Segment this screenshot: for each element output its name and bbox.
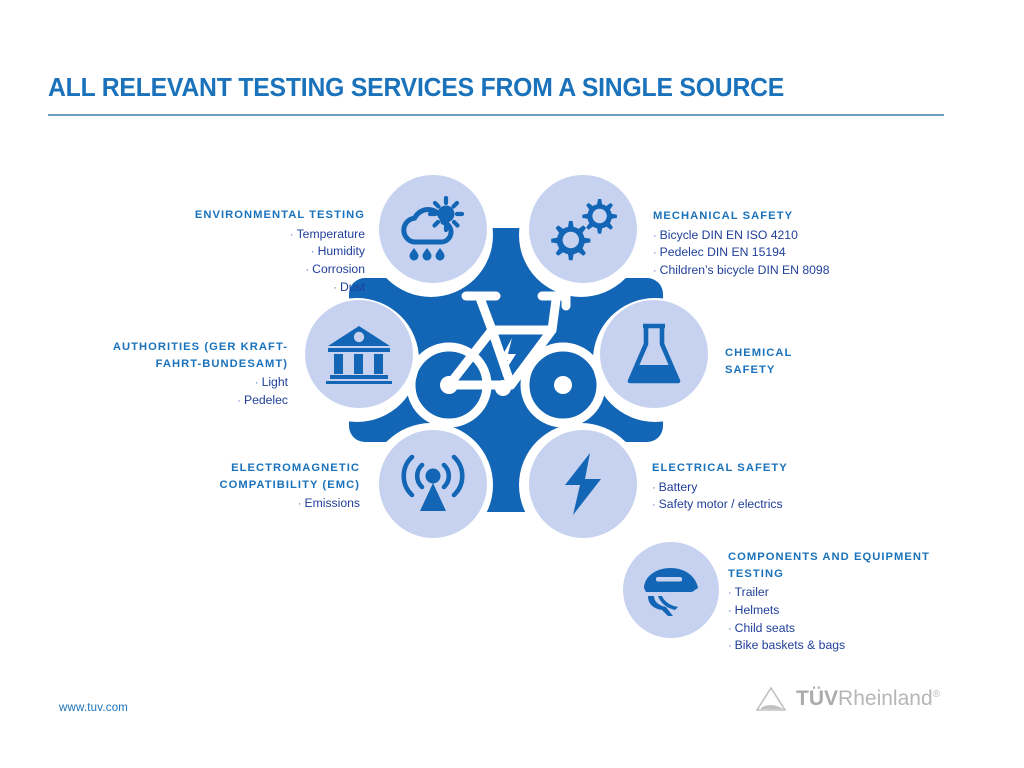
label-components-and-equipment-testing: COMPONENTS AND EQUIPMENT TESTING ·Traile… (728, 549, 1013, 655)
heading-line-2: FAHRT-BUNDESAMT) (55, 356, 288, 373)
gears-icon (548, 195, 618, 263)
bullet-icon: · (652, 499, 656, 511)
registered-mark: ® (933, 689, 940, 700)
bullet-icon: · (652, 482, 656, 494)
bubble-components-and-equipment-testing[interactable] (623, 542, 719, 638)
label-authorities: AUTHORITIES (GER KRAFT- FAHRT-BUNDESAMT)… (55, 339, 288, 410)
heading: ENVIRONMENTAL TESTING (120, 207, 365, 224)
lightning-bolt-icon (559, 451, 607, 517)
list-item: ·Pedelec DIN EN 15194 (653, 244, 953, 262)
website-link[interactable]: www.tuv.com (59, 702, 128, 714)
heading-line-2: SAFETY (725, 362, 945, 379)
erlenmeyer-flask-icon (625, 320, 683, 388)
item-list: ·Emissions (150, 495, 360, 513)
bullet-icon: · (728, 587, 732, 599)
label-mechanical-safety: MECHANICAL SAFETY ·Bicycle DIN EN ISO 42… (653, 208, 953, 280)
item-list: ·Trailer ·Helmets ·Child seats ·Bike bas… (728, 584, 1013, 655)
item-list: ·Temperature ·Humidity ·Corrosion ·Dust (120, 226, 365, 297)
list-item: ·Battery (652, 479, 932, 497)
label-electromagnetic-compatibility: ELECTROMAGNETIC COMPATIBILITY (EMC) ·Emi… (150, 460, 360, 513)
heading-line-1: ELECTROMAGNETIC (150, 460, 360, 477)
bullet-icon: · (311, 246, 315, 258)
item-list: ·Battery ·Safety motor / electrics (652, 479, 932, 515)
list-item: ·Dust (120, 279, 365, 297)
bullet-icon: · (305, 264, 309, 276)
heading-line-1: CHEMICAL (725, 345, 945, 362)
infographic: ENVIRONMENTAL TESTING ·Temperature ·Humi… (0, 0, 1024, 768)
bubble-authorities[interactable] (305, 300, 413, 408)
heading: ELECTRICAL SAFETY (652, 460, 932, 477)
brand-wordmark: TÜVRheinland® (796, 687, 940, 711)
label-environmental-testing: ENVIRONMENTAL TESTING ·Temperature ·Humi… (120, 207, 365, 297)
list-item: ·Temperature (120, 226, 365, 244)
heading-line-1: COMPONENTS AND EQUIPMENT (728, 549, 1013, 566)
list-item: ·Light (55, 374, 288, 392)
list-item: ·Pedelec (55, 392, 288, 410)
bullet-icon: · (653, 247, 657, 259)
list-item: ·Safety motor / electrics (652, 496, 932, 514)
list-item: ·Humidity (120, 243, 365, 261)
bullet-icon: · (237, 395, 241, 407)
list-item: ·Bicycle DIN EN ISO 4210 (653, 227, 953, 245)
antenna-signal-icon (400, 453, 466, 515)
list-item: ·Child seats (728, 620, 1013, 638)
weather-cloud-sun-rain-icon (398, 196, 468, 262)
bubble-environmental-testing[interactable] (379, 175, 487, 283)
heading: MECHANICAL SAFETY (653, 208, 953, 225)
bubble-electrical-safety[interactable] (529, 430, 637, 538)
label-electrical-safety: ELECTRICAL SAFETY ·Battery ·Safety motor… (652, 460, 932, 514)
bullet-icon: · (728, 623, 732, 635)
bullet-icon: · (298, 498, 302, 510)
label-chemical-safety: CHEMICAL SAFETY (725, 345, 945, 378)
bullet-icon: · (333, 282, 337, 294)
list-item: ·Corrosion (120, 261, 365, 279)
heading-line-2: COMPATIBILITY (EMC) (150, 477, 360, 494)
brand-bold: TÜV (796, 687, 838, 710)
bike-helmet-icon (640, 562, 702, 618)
heading-line-2: TESTING (728, 566, 1013, 583)
bullet-icon: · (728, 640, 732, 652)
bullet-icon: · (290, 229, 294, 241)
list-item: ·Emissions (150, 495, 360, 513)
bubble-chemical-safety[interactable] (600, 300, 708, 408)
item-list: ·Bicycle DIN EN ISO 4210 ·Pedelec DIN EN… (653, 227, 953, 280)
bullet-icon: · (255, 377, 259, 389)
brand-light: Rheinland (838, 687, 933, 710)
tuv-triangle-icon (755, 686, 787, 712)
government-building-icon (326, 324, 392, 384)
item-list: ·Light ·Pedelec (55, 374, 288, 410)
bullet-icon: · (728, 605, 732, 617)
tuv-rheinland-logo: TÜVRheinland® (755, 686, 940, 712)
list-item: ·Bike baskets & bags (728, 637, 1013, 655)
list-item: ·Children’s bicycle DIN EN 8098 (653, 262, 953, 280)
bullet-icon: · (653, 230, 657, 242)
list-item: ·Trailer (728, 584, 1013, 602)
bubble-electromagnetic-compatibility[interactable] (379, 430, 487, 538)
list-item: ·Helmets (728, 602, 1013, 620)
bullet-icon: · (653, 265, 657, 277)
heading-line-1: AUTHORITIES (GER KRAFT- (55, 339, 288, 356)
bubble-mechanical-safety[interactable] (529, 175, 637, 283)
